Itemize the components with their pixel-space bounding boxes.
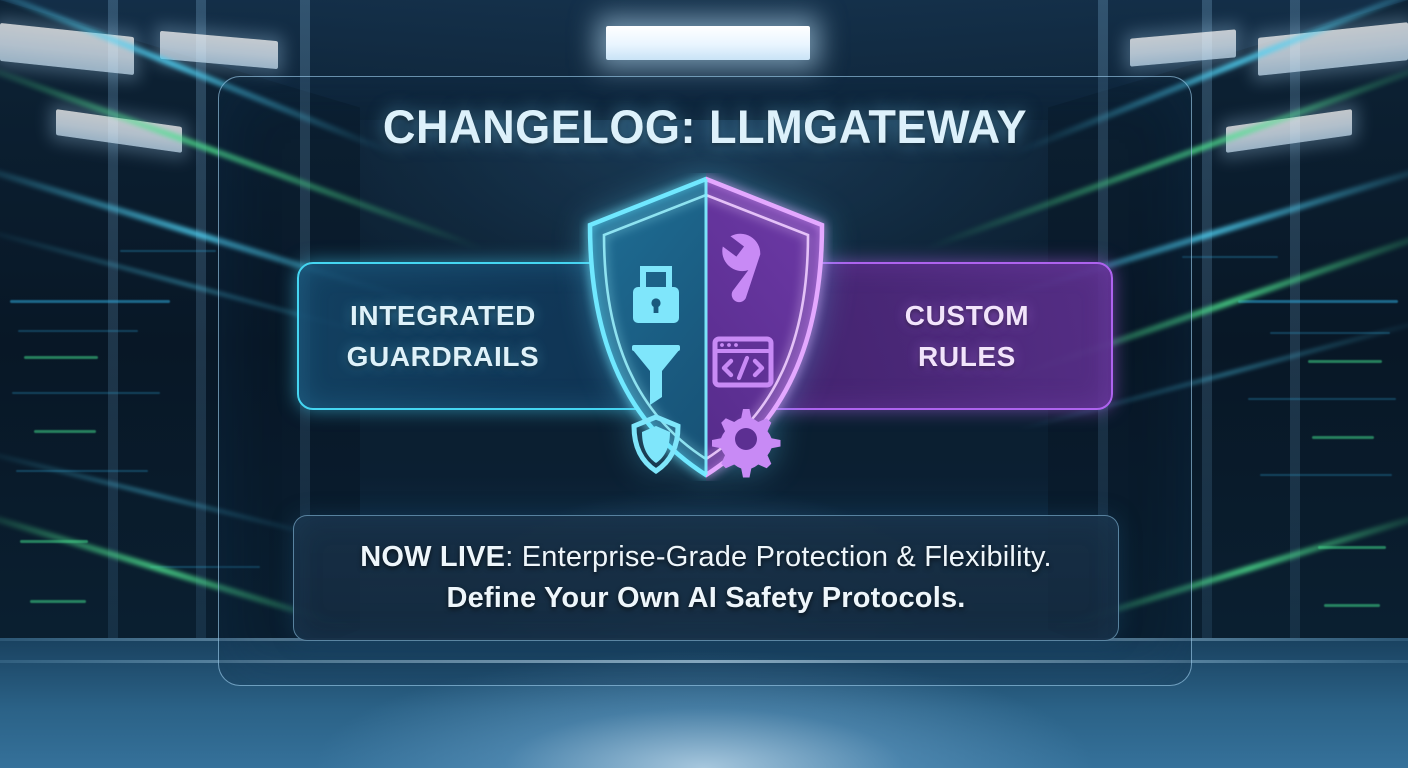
rack-led-row bbox=[1324, 604, 1380, 607]
panel-left-label-line2: GUARDRAILS bbox=[347, 341, 540, 372]
rack-led-row bbox=[18, 330, 138, 332]
panel-right-label-line2: RULES bbox=[918, 341, 1016, 372]
rack-led-row bbox=[1238, 300, 1398, 303]
status-banner: NOW LIVE: Enterprise-Grade Protection & … bbox=[293, 515, 1119, 641]
rack-led-row bbox=[1182, 256, 1278, 258]
ceiling-light-panel bbox=[606, 26, 810, 60]
rack-led-row bbox=[10, 300, 170, 303]
panel-right-label-line1: CUSTOM bbox=[905, 300, 1029, 331]
panel-right-label: CUSTOM RULES bbox=[837, 295, 1097, 377]
rack-led-row bbox=[16, 470, 148, 472]
rack-led-row bbox=[1248, 398, 1396, 400]
screenshot-root: CHANGELOG: LLMGATEWAY INTEGRATED GUARDRA… bbox=[0, 0, 1408, 768]
banner-line-2: Define Your Own AI Safety Protocols. bbox=[446, 578, 965, 619]
rack-led-row bbox=[12, 392, 160, 394]
banner-line-1: NOW LIVE: Enterprise-Grade Protection & … bbox=[360, 537, 1052, 578]
rack-led-row bbox=[120, 250, 216, 252]
panel-left-label-line1: INTEGRATED bbox=[350, 300, 536, 331]
split-security-shield bbox=[579, 173, 833, 481]
banner-line-1-rest: : Enterprise-Grade Protection & Flexibil… bbox=[505, 541, 1052, 573]
banner-now-live-badge: NOW LIVE bbox=[360, 541, 505, 573]
rack-led-row bbox=[1308, 360, 1382, 363]
rack-led-row bbox=[34, 430, 96, 433]
rack-led-row bbox=[24, 356, 98, 359]
rack-led-row bbox=[1312, 436, 1374, 439]
rack-led-row bbox=[1260, 474, 1392, 476]
main-card: CHANGELOG: LLMGATEWAY INTEGRATED GUARDRA… bbox=[218, 76, 1192, 686]
rack-led-row bbox=[30, 600, 86, 603]
page-title: CHANGELOG: LLMGATEWAY bbox=[238, 99, 1171, 154]
panel-left-label: INTEGRATED GUARDRAILS bbox=[313, 295, 573, 377]
